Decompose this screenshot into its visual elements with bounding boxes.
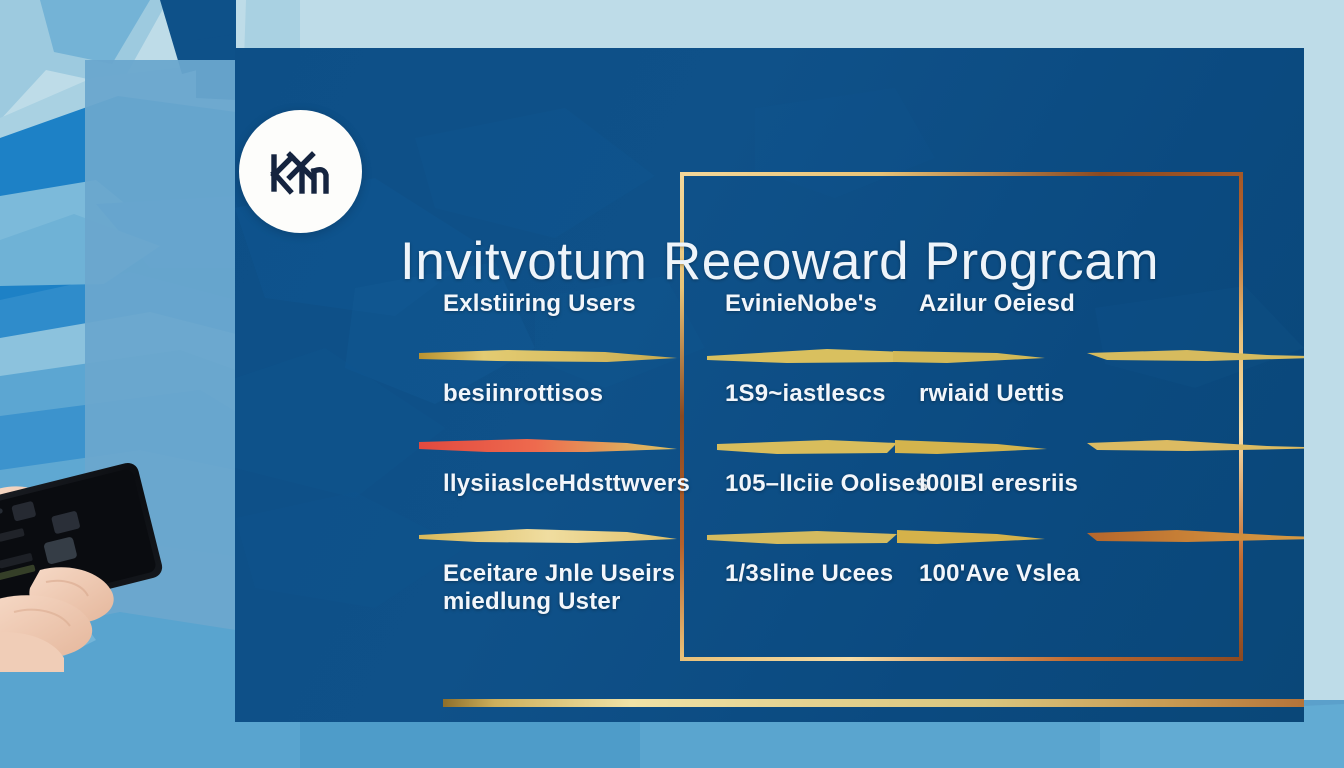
- table-cell-col3: l00IBl eresriis: [919, 470, 1078, 498]
- screenshot-root: Invitvotum Reeoward Progrcam Exlstiiring…: [0, 0, 1344, 768]
- bottom-rule: [443, 699, 1304, 707]
- table-cell-col1: Eceitare Jnle Useirs miedlung Uster: [443, 560, 675, 616]
- table-cell-col1: llysiiaslceHdsttwvers: [443, 470, 690, 498]
- abstract-monogram-icon: [266, 141, 336, 203]
- rewards-table: Exlstiiring Users EvinieNobe's Azilur Oe…: [235, 278, 1304, 652]
- table-cell-col1: besiinrottisos: [443, 380, 603, 408]
- table-row: besiinrottisos 1S9~iastlescs rwiaid Uett…: [235, 368, 1304, 458]
- hand-holding-smartphone: [0, 452, 196, 672]
- table-row: llysiiaslceHdsttwvers 105–lIciie Oolises…: [235, 458, 1304, 548]
- table-cell-col2: 1/3sline Ucees: [725, 560, 893, 588]
- brand-logo: [239, 110, 362, 233]
- table-cell-col2: 105–lIciie Oolises: [725, 470, 929, 498]
- promo-card: Invitvotum Reeoward Progrcam Exlstiiring…: [235, 48, 1304, 722]
- table-cell-col2: 1S9~iastlescs: [725, 380, 886, 408]
- table-cell-col1: Exlstiiring Users: [443, 290, 636, 318]
- table-row: Eceitare Jnle Useirs miedlung Uster 1/3s…: [235, 548, 1304, 652]
- table-cell-col2: EvinieNobe's: [725, 290, 877, 318]
- hand-holding-smartphone-icon: [0, 452, 196, 672]
- table-cell-col3: rwiaid Uettis: [919, 380, 1064, 408]
- table-row-header: Exlstiiring Users EvinieNobe's Azilur Oe…: [235, 278, 1304, 368]
- table-cell-col3: Azilur Oeiesd: [919, 290, 1075, 318]
- table-cell-col3: 100'Ave Vslea: [919, 560, 1080, 588]
